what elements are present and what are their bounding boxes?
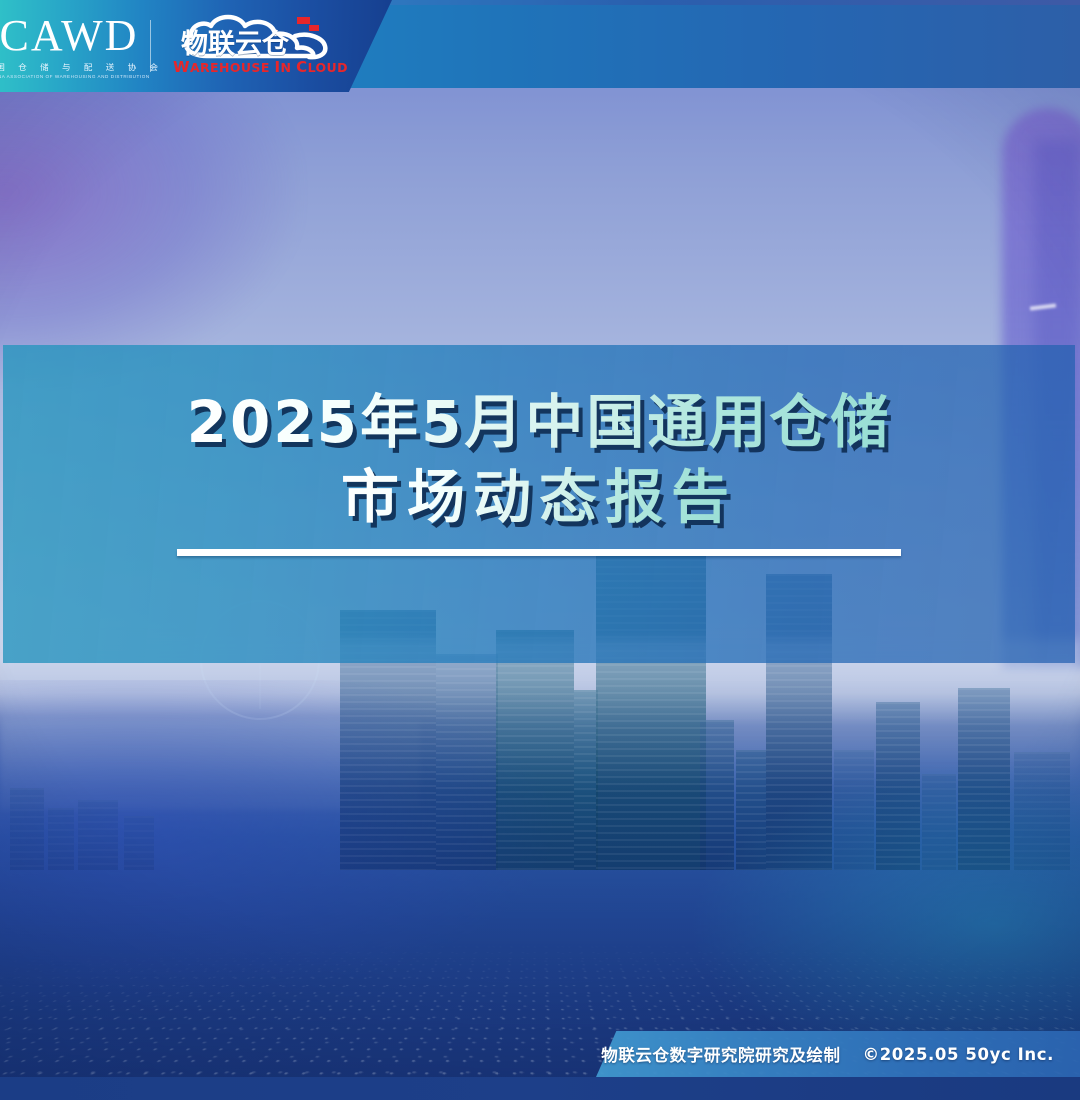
cawd-acronym: CAWD — [0, 14, 138, 58]
footer-bottom-strip — [0, 1077, 1080, 1100]
cawd-logo-icon[interactable]: CAWD 中 国 仓 储 与 配 送 协 会 CHINA ASSOCIATION… — [0, 14, 144, 79]
page-title-line-1: 2025年5月中国通用仓储 — [187, 387, 892, 458]
header-bar: CAWD 中 国 仓 储 与 配 送 协 会 CHINA ASSOCIATION… — [0, 0, 1080, 92]
title-underline — [177, 549, 901, 556]
page-title-line-2: 市场动态报告 — [341, 462, 737, 533]
company-name-en: WAREHOUSE IN CLOUD — [173, 58, 348, 76]
cawd-name-cn: 中 国 仓 储 与 配 送 协 会 — [0, 61, 163, 72]
red-flag-icon — [295, 16, 321, 38]
footer-copyright: ©2025.05 50yc Inc. — [863, 1045, 1054, 1064]
cawd-name-en: CHINA ASSOCIATION OF WAREHOUSING AND DIS… — [0, 74, 150, 79]
company-name-cn: 物联云仓 — [181, 22, 289, 61]
title-block: 2025年5月中国通用仓储 市场动态报告 — [3, 345, 1075, 663]
cloud-warehouse-logo-icon[interactable]: 物联云仓 WAREHOUSE IN CLOUD — [167, 10, 343, 82]
footer-credit-text: 物联云仓数字研究院研究及绘制 — [601, 1042, 840, 1066]
report-cover-slide: CAWD 中 国 仓 储 与 配 送 协 会 CHINA ASSOCIATION… — [0, 0, 1080, 1100]
footer-credit: 物联云仓数字研究院研究及绘制 ©2025.05 50yc Inc. — [596, 1031, 1066, 1077]
